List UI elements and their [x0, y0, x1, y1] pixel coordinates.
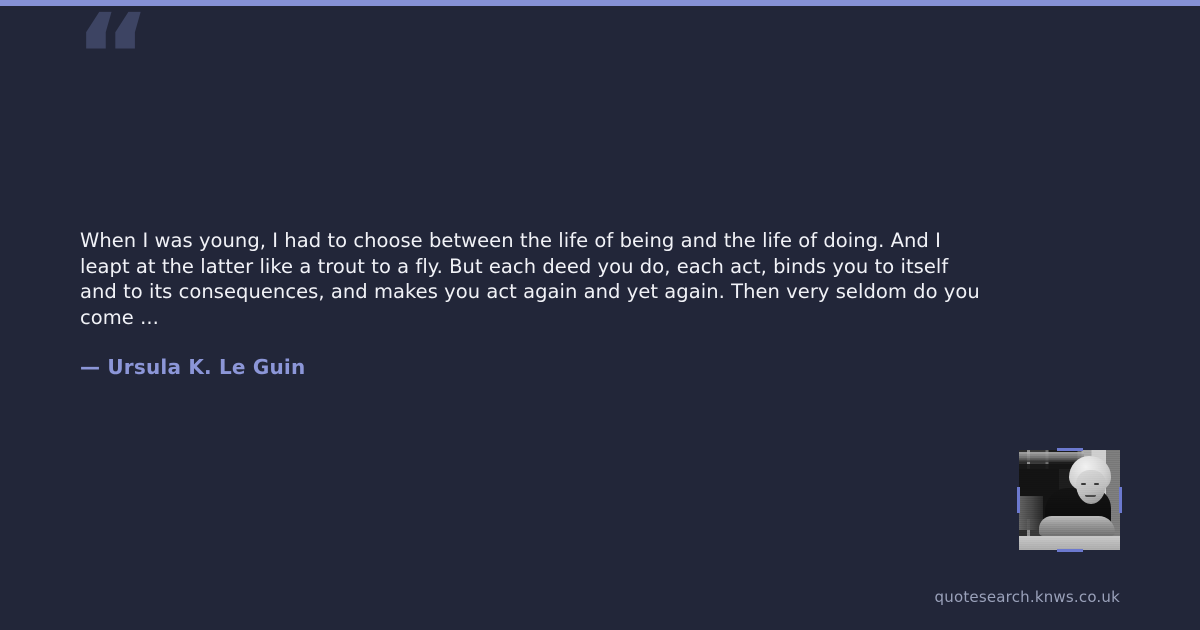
portrait-accent-right	[1119, 487, 1122, 513]
portrait-mouth	[1085, 495, 1096, 497]
portrait-arms	[1039, 516, 1115, 536]
quote-block: When I was young, I had to choose betwee…	[80, 228, 980, 330]
portrait-accent-bottom	[1057, 549, 1083, 552]
author-portrait	[1019, 450, 1120, 550]
quote-text: When I was young, I had to choose betwee…	[80, 228, 980, 330]
portrait-table	[1019, 536, 1120, 550]
portrait-accent-top	[1057, 448, 1083, 451]
portrait-shelf	[1019, 452, 1084, 462]
portrait-eye-left	[1081, 483, 1086, 485]
quote-author: — Ursula K. Le Guin	[80, 355, 305, 379]
quote-card: “ When I was young, I had to choose betw…	[0, 0, 1200, 630]
open-quote-icon: “	[74, 0, 150, 116]
portrait-frame	[1019, 450, 1120, 550]
portrait-accent-left	[1017, 487, 1020, 513]
portrait-eye-right	[1094, 483, 1099, 485]
site-watermark: quotesearch.knws.co.uk	[935, 588, 1120, 606]
top-accent-bar	[0, 0, 1200, 6]
